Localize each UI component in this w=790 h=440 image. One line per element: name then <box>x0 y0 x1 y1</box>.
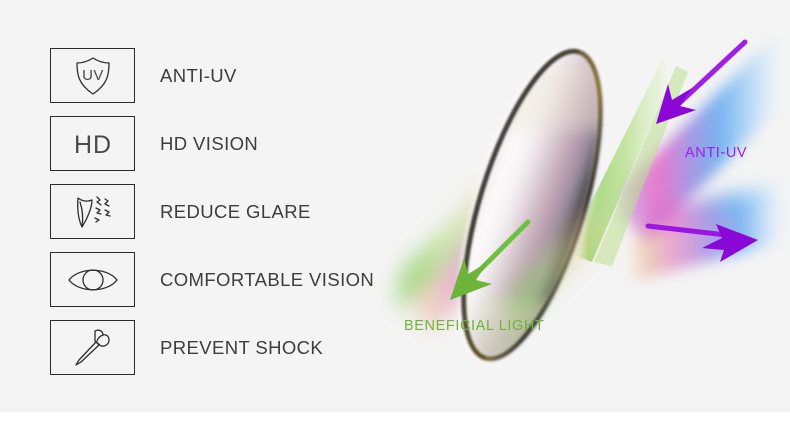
hd-text-icon: HD <box>65 126 121 162</box>
feature-row-hd-vision[interactable]: HD HD VISION <box>50 116 450 171</box>
feature-list: UV ANTI-UV HD HD VISION <box>50 48 450 388</box>
feature-row-reduce-glare[interactable]: REDUCE GLARE <box>50 184 450 239</box>
feature-label-prevent-shock: PREVENT SHOCK <box>160 337 323 359</box>
feature-label-reduce-glare: REDUCE GLARE <box>160 201 311 223</box>
feature-label-comfortable-vision: COMFORTABLE VISION <box>160 269 374 291</box>
feature-label-hd-vision: HD VISION <box>160 133 258 155</box>
icon-box-prevent-shock <box>50 320 135 375</box>
icon-box-reduce-glare <box>50 184 135 239</box>
feature-row-anti-uv[interactable]: UV ANTI-UV <box>50 48 450 103</box>
glare-leaf-icon <box>67 191 119 233</box>
eye-icon <box>65 263 121 297</box>
caption-anti-uv: ANTI-UV <box>685 145 747 161</box>
uv-shield-icon: UV <box>69 54 117 98</box>
hammer-icon <box>70 327 116 369</box>
promo-canvas: ANTI-UV BENEFICIAL LIGHT UV ANTI-UV HD H… <box>0 0 790 440</box>
hd-label: HD <box>73 131 111 159</box>
feature-row-comfortable-vision[interactable]: COMFORTABLE VISION <box>50 252 450 307</box>
icon-box-hd-vision: HD <box>50 116 135 171</box>
feature-row-prevent-shock[interactable]: PREVENT SHOCK <box>50 320 450 375</box>
uv-label: UV <box>82 67 104 84</box>
icon-box-anti-uv: UV <box>50 48 135 103</box>
icon-box-comfortable-vision <box>50 252 135 307</box>
bottom-white-strip <box>0 412 790 440</box>
feature-label-anti-uv: ANTI-UV <box>160 65 237 87</box>
